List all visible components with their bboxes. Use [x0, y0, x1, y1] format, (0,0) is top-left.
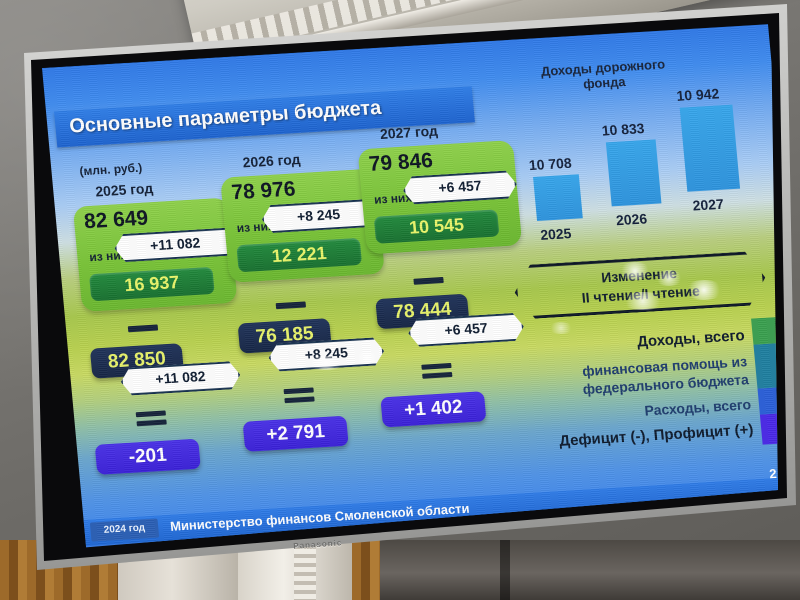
- balance-box: +1 402: [380, 391, 486, 427]
- balance-value: -201: [95, 443, 200, 471]
- swatch-revenues: [751, 317, 779, 345]
- bar-value-label: 10 708: [528, 155, 572, 174]
- federal-aid-value: 12 221: [237, 241, 362, 269]
- revenue-change-value: +11 082: [116, 232, 235, 255]
- minus-operator: [128, 324, 158, 332]
- bar-value-label: 10 942: [676, 85, 720, 104]
- column-year-label: 2027 год: [379, 122, 438, 141]
- revenue-change-value: +6 457: [404, 175, 515, 198]
- bar-category-label: 2026: [615, 210, 647, 228]
- footer-year-badge: 2024 год: [90, 519, 159, 542]
- federal-aid-value: 16 937: [89, 270, 214, 298]
- units-label: (млн. руб.): [79, 161, 143, 179]
- room-scene: Основные параметры бюджета (млн. руб.) 2…: [0, 0, 800, 600]
- bar-category-label: 2027: [692, 196, 724, 214]
- bar-value-label: 10 833: [601, 120, 645, 139]
- revenue-total-value: 79 846: [368, 149, 434, 177]
- expense-change-value: +8 245: [270, 342, 383, 365]
- federal-aid-box: 10 545: [374, 209, 500, 243]
- minus-operator: [276, 301, 306, 309]
- expense-change-value: +11 082: [122, 366, 239, 389]
- equals-operator-top: [136, 410, 166, 417]
- equals-operator-top: [421, 363, 451, 370]
- page-title: Основные параметры бюджета: [68, 97, 382, 139]
- equals-operator-bottom: [137, 419, 167, 426]
- equals-operator-bottom: [284, 396, 314, 403]
- slide-plane: Основные параметры бюджета (млн. руб.) 2…: [42, 24, 772, 550]
- bar-2025: [533, 174, 583, 221]
- column-year-label: 2026 год: [242, 151, 301, 170]
- tv-screen: Основные параметры бюджета (млн. руб.) 2…: [8, 4, 796, 570]
- balance-value: +2 791: [243, 420, 348, 448]
- balance-box: -201: [95, 439, 201, 475]
- footer-year-label: 2024 год: [90, 522, 159, 537]
- federal-aid-box: 12 221: [236, 238, 362, 272]
- equals-operator-top: [284, 387, 314, 394]
- revenue-total-value: 78 976: [230, 177, 296, 205]
- display-panel: Основные параметры бюджета (млн. руб.) 2…: [8, 4, 796, 570]
- revenue-change-value: +8 245: [263, 204, 374, 227]
- column-year-label: 2025 год: [95, 180, 154, 199]
- bar-category-label: 2025: [540, 225, 572, 243]
- presentation-slide: Основные параметры бюджета (млн. руб.) 2…: [42, 24, 796, 570]
- minus-operator: [413, 277, 443, 285]
- federal-aid-box: 16 937: [89, 267, 215, 301]
- expense-change-value: +6 457: [410, 318, 523, 341]
- revenue-total-value: 82 649: [83, 206, 149, 234]
- balance-box: +2 791: [243, 416, 349, 452]
- federal-aid-value: 10 545: [374, 212, 499, 240]
- change-callout-hexagon: Изменение II чтение/I чтение: [512, 251, 768, 320]
- balance-value: +1 402: [381, 395, 486, 423]
- equals-operator-bottom: [422, 372, 452, 379]
- bar-2026: [606, 139, 662, 206]
- bar-2027: [680, 105, 740, 192]
